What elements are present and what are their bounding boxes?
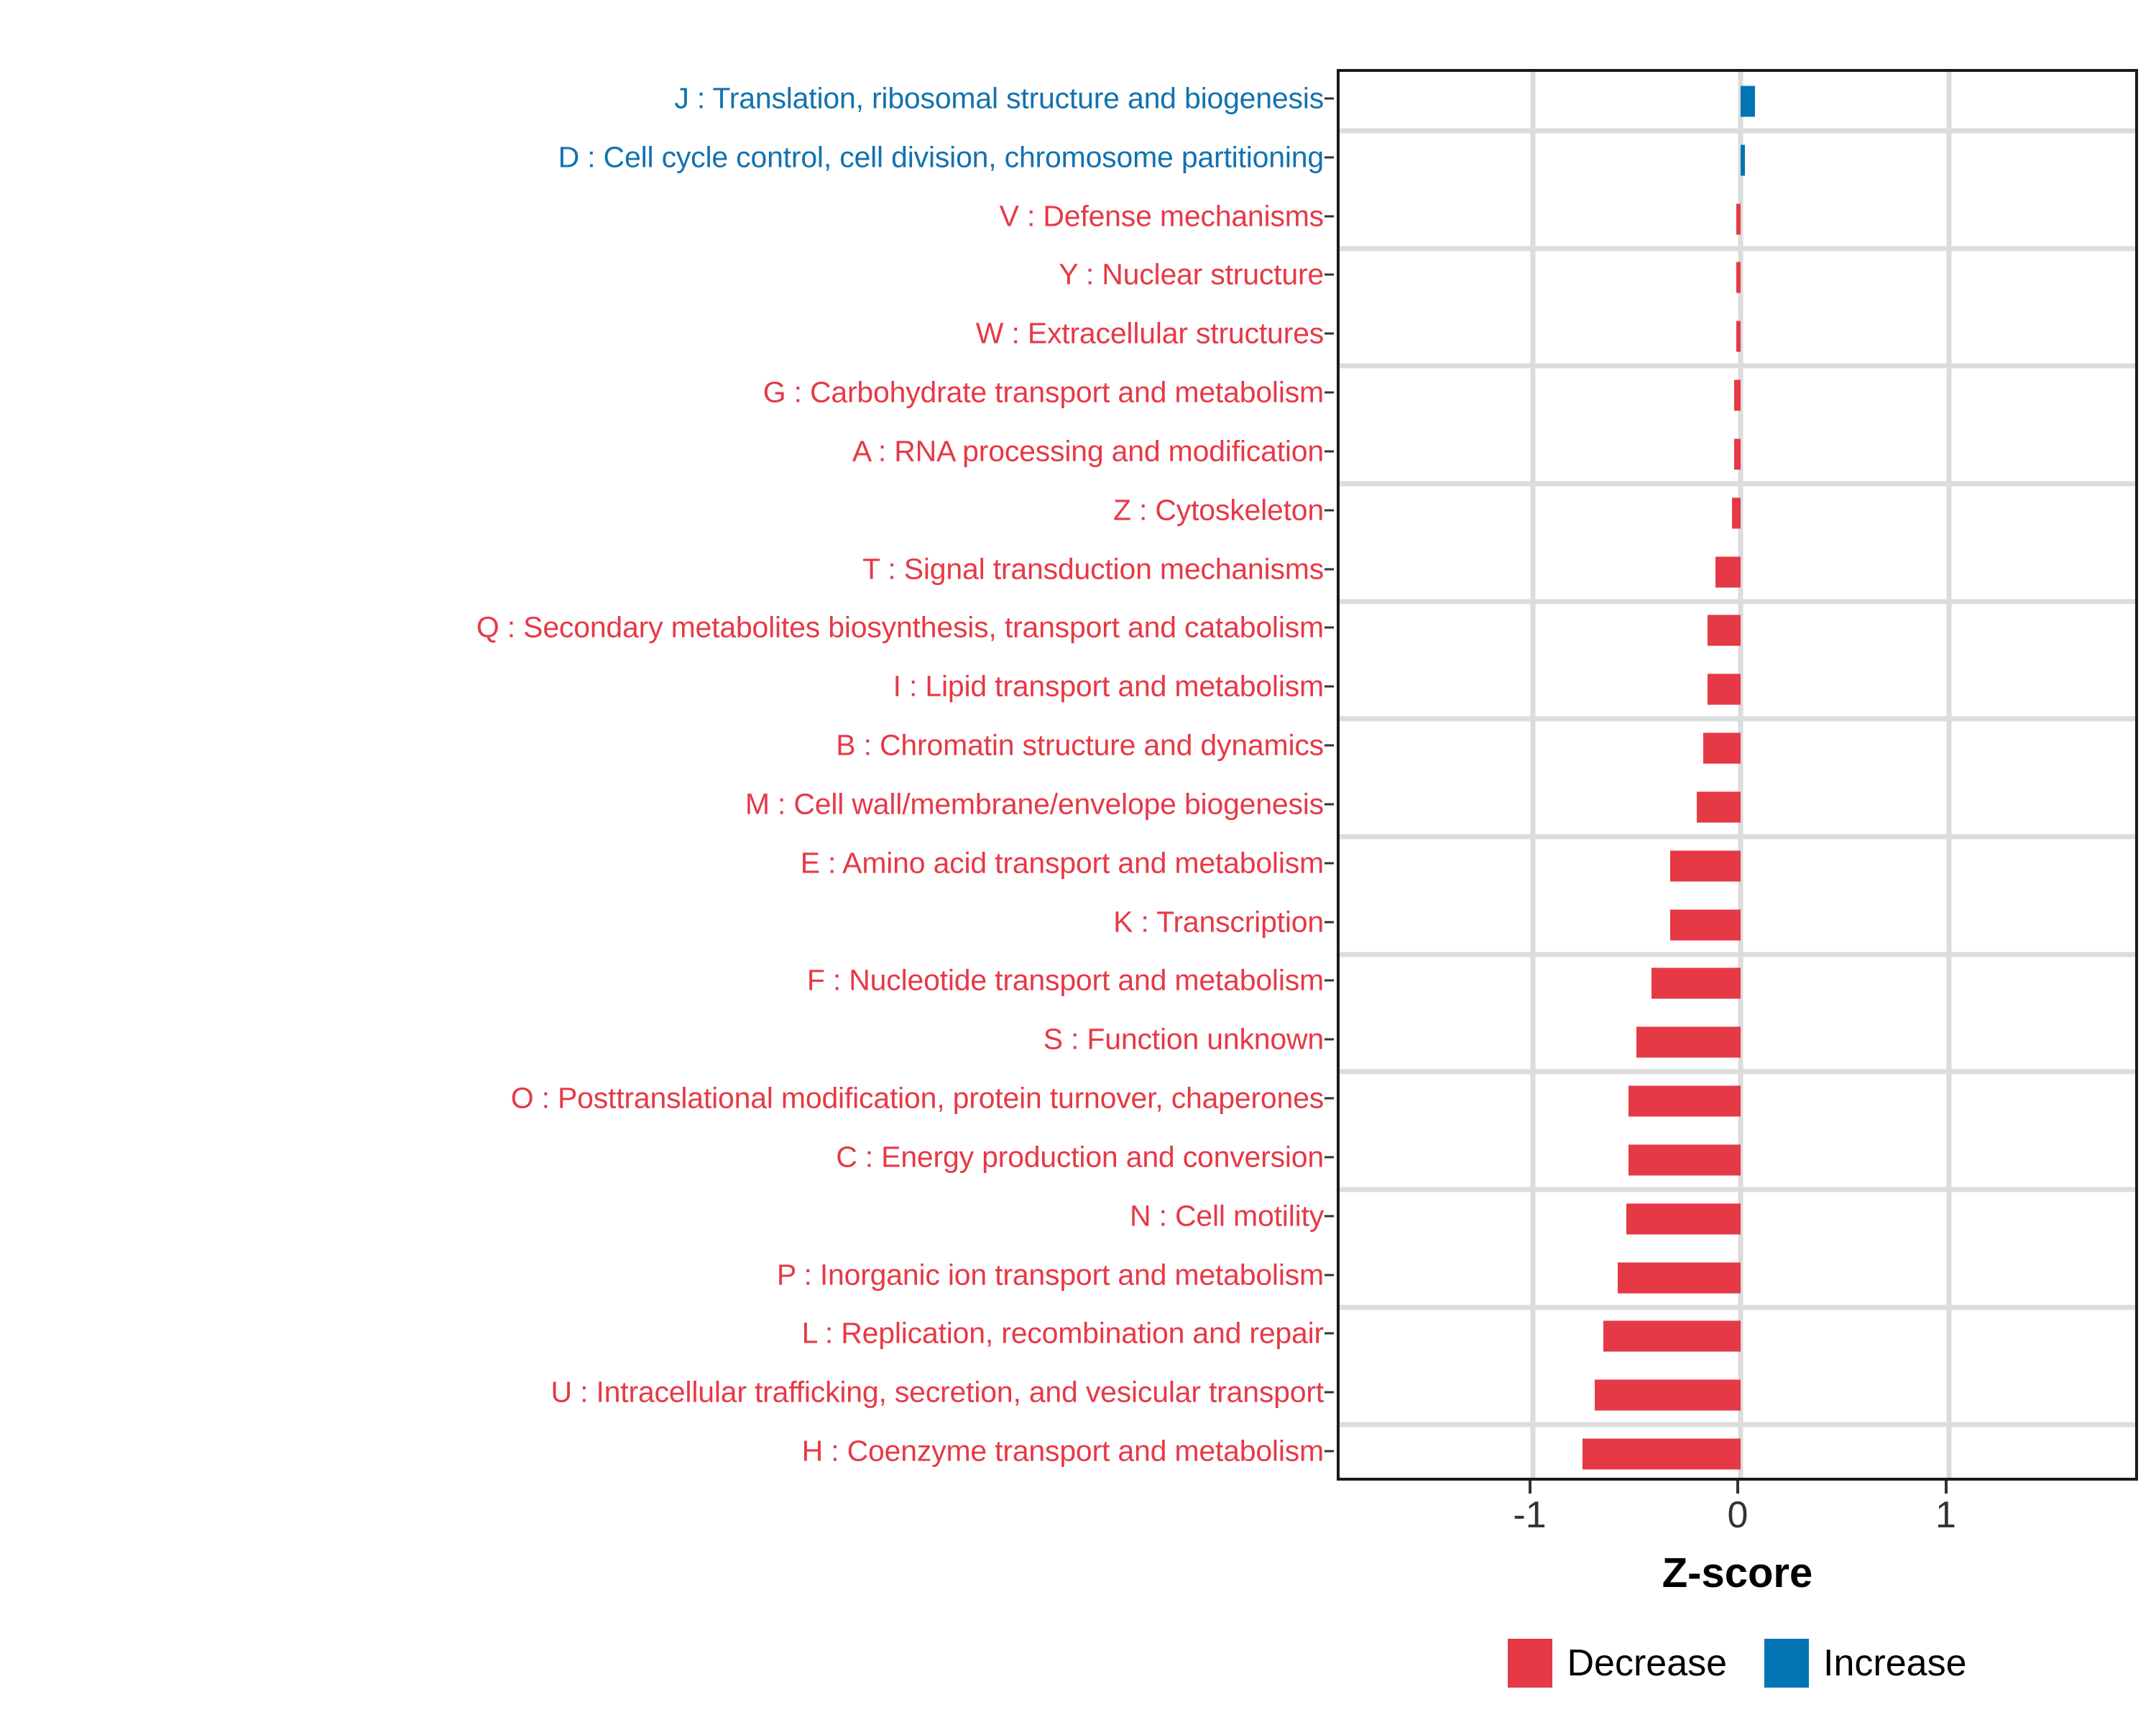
legend-swatch <box>1764 1639 1809 1688</box>
y-axis-tick <box>1325 686 1334 688</box>
bar <box>1651 968 1741 999</box>
y-axis-tick <box>1325 1450 1334 1453</box>
bar <box>1708 674 1741 705</box>
bar <box>1736 203 1741 234</box>
bar <box>1636 1027 1741 1058</box>
plot-panel <box>1337 69 2138 1481</box>
legend-swatch <box>1508 1639 1552 1688</box>
gridline-horizontal <box>1340 599 2135 604</box>
gridline-horizontal <box>1340 952 2135 957</box>
legend-item[interactable]: Decrease <box>1508 1639 1727 1688</box>
bar <box>1732 497 1741 528</box>
x-axis-title: Z-score <box>1337 1549 2138 1597</box>
bar <box>1618 1262 1741 1293</box>
bar <box>1670 909 1741 940</box>
bar <box>1734 380 1741 411</box>
category-label: E : Amino acid transport and metabolism <box>801 848 1324 878</box>
category-label: G : Carbohydrate transport and metabolis… <box>763 378 1324 408</box>
category-label: Q : Secondary metabolites biosynthesis, … <box>476 613 1324 643</box>
bar <box>1715 556 1741 587</box>
bar <box>1741 144 1745 175</box>
bar <box>1708 615 1741 646</box>
gridline-horizontal <box>1340 1422 2135 1427</box>
x-axis-tick <box>1529 1481 1531 1494</box>
gridline-vertical <box>1946 72 1951 1478</box>
x-axis-tick <box>1736 1481 1739 1494</box>
bar <box>1626 1203 1741 1234</box>
y-axis-tick <box>1325 333 1334 335</box>
category-label: J : Translation, ribosomal structure and… <box>674 83 1324 113</box>
category-label: L : Replication, recombination and repai… <box>802 1319 1324 1348</box>
gridline-horizontal <box>1340 1069 2135 1075</box>
y-axis-tick <box>1325 215 1334 217</box>
y-axis-tick <box>1325 1039 1334 1041</box>
y-axis-tick <box>1325 1156 1334 1158</box>
category-label: B : Chromatin structure and dynamics <box>836 731 1324 760</box>
y-axis-tick <box>1325 921 1334 923</box>
x-axis-tick-label: 0 <box>1728 1496 1749 1534</box>
y-axis-tick <box>1325 627 1334 629</box>
category-label: F : Nucleotide transport and metabolism <box>807 966 1324 995</box>
category-label: K : Transcription <box>1113 907 1324 937</box>
category-label: M : Cell wall/membrane/envelope biogenes… <box>745 789 1324 819</box>
category-label: T : Signal transduction mechanisms <box>862 554 1324 584</box>
y-axis-tick <box>1325 450 1334 452</box>
category-label: D : Cell cycle control, cell division, c… <box>558 142 1324 172</box>
x-axis-tick <box>1945 1481 1948 1494</box>
y-axis-tick <box>1325 274 1334 276</box>
cog-zscore-bar-chart: J : Translation, ribosomal structure and… <box>0 0 2156 1725</box>
legend: DecreaseIncrease <box>1337 1639 2138 1688</box>
y-axis-tick <box>1325 1391 1334 1394</box>
legend-item[interactable]: Increase <box>1764 1639 1966 1688</box>
bar <box>1741 86 1755 116</box>
y-axis-tick <box>1325 1098 1334 1100</box>
gridline-horizontal <box>1340 1187 2135 1192</box>
category-label: V : Defense mechanisms <box>1000 201 1324 231</box>
category-label: U : Intracellular trafficking, secretion… <box>550 1378 1324 1407</box>
category-label: Z : Cytoskeleton <box>1113 495 1324 525</box>
y-axis-tick <box>1325 1333 1334 1335</box>
bar <box>1603 1321 1741 1352</box>
bar <box>1734 438 1741 469</box>
category-label: H : Coenzyme transport and metabolism <box>802 1437 1324 1466</box>
category-label: C : Energy production and conversion <box>836 1142 1324 1172</box>
y-axis-tick <box>1325 980 1334 982</box>
x-axis-tick-label: 1 <box>1935 1496 1956 1534</box>
gridline-horizontal <box>1340 834 2135 839</box>
bar <box>1670 850 1741 881</box>
bar <box>1697 791 1741 822</box>
category-label-column: J : Translation, ribosomal structure and… <box>0 69 1334 1481</box>
category-label: N : Cell motility <box>1130 1201 1324 1230</box>
y-axis-tick <box>1325 803 1334 805</box>
y-axis-tick <box>1325 509 1334 511</box>
x-axis-tick-label: -1 <box>1513 1496 1546 1534</box>
legend-label: Increase <box>1823 1644 1966 1682</box>
y-axis-tick <box>1325 1274 1334 1276</box>
category-label: S : Function unknown <box>1044 1025 1324 1054</box>
bar <box>1628 1086 1741 1117</box>
category-label: Y : Nuclear structure <box>1059 260 1324 290</box>
bar <box>1736 262 1741 293</box>
gridline-horizontal <box>1340 364 2135 369</box>
gridline-horizontal <box>1340 481 2135 486</box>
bar <box>1583 1439 1741 1470</box>
legend-label: Decrease <box>1567 1644 1727 1682</box>
category-label: O : Posttranslational modification, prot… <box>511 1084 1324 1113</box>
category-label: I : Lipid transport and metabolism <box>893 672 1324 701</box>
gridline-horizontal <box>1340 128 2135 133</box>
gridline-horizontal <box>1340 246 2135 251</box>
y-axis-tick <box>1325 97 1334 99</box>
y-axis-tick <box>1325 156 1334 158</box>
gridline-horizontal <box>1340 1305 2135 1310</box>
y-axis-tick <box>1325 568 1334 570</box>
category-label: W : Extracellular structures <box>976 319 1324 349</box>
bar <box>1628 1144 1741 1175</box>
y-axis-tick <box>1325 745 1334 747</box>
bar <box>1595 1380 1741 1411</box>
category-label: A : RNA processing and modification <box>852 436 1324 466</box>
category-label: P : Inorganic ion transport and metaboli… <box>777 1260 1324 1289</box>
bar <box>1736 321 1741 352</box>
gridline-vertical <box>1530 72 1535 1478</box>
bar <box>1703 733 1741 764</box>
y-axis-tick <box>1325 862 1334 864</box>
y-axis-tick <box>1325 392 1334 394</box>
y-axis-tick <box>1325 1215 1334 1217</box>
gridline-horizontal <box>1340 717 2135 722</box>
